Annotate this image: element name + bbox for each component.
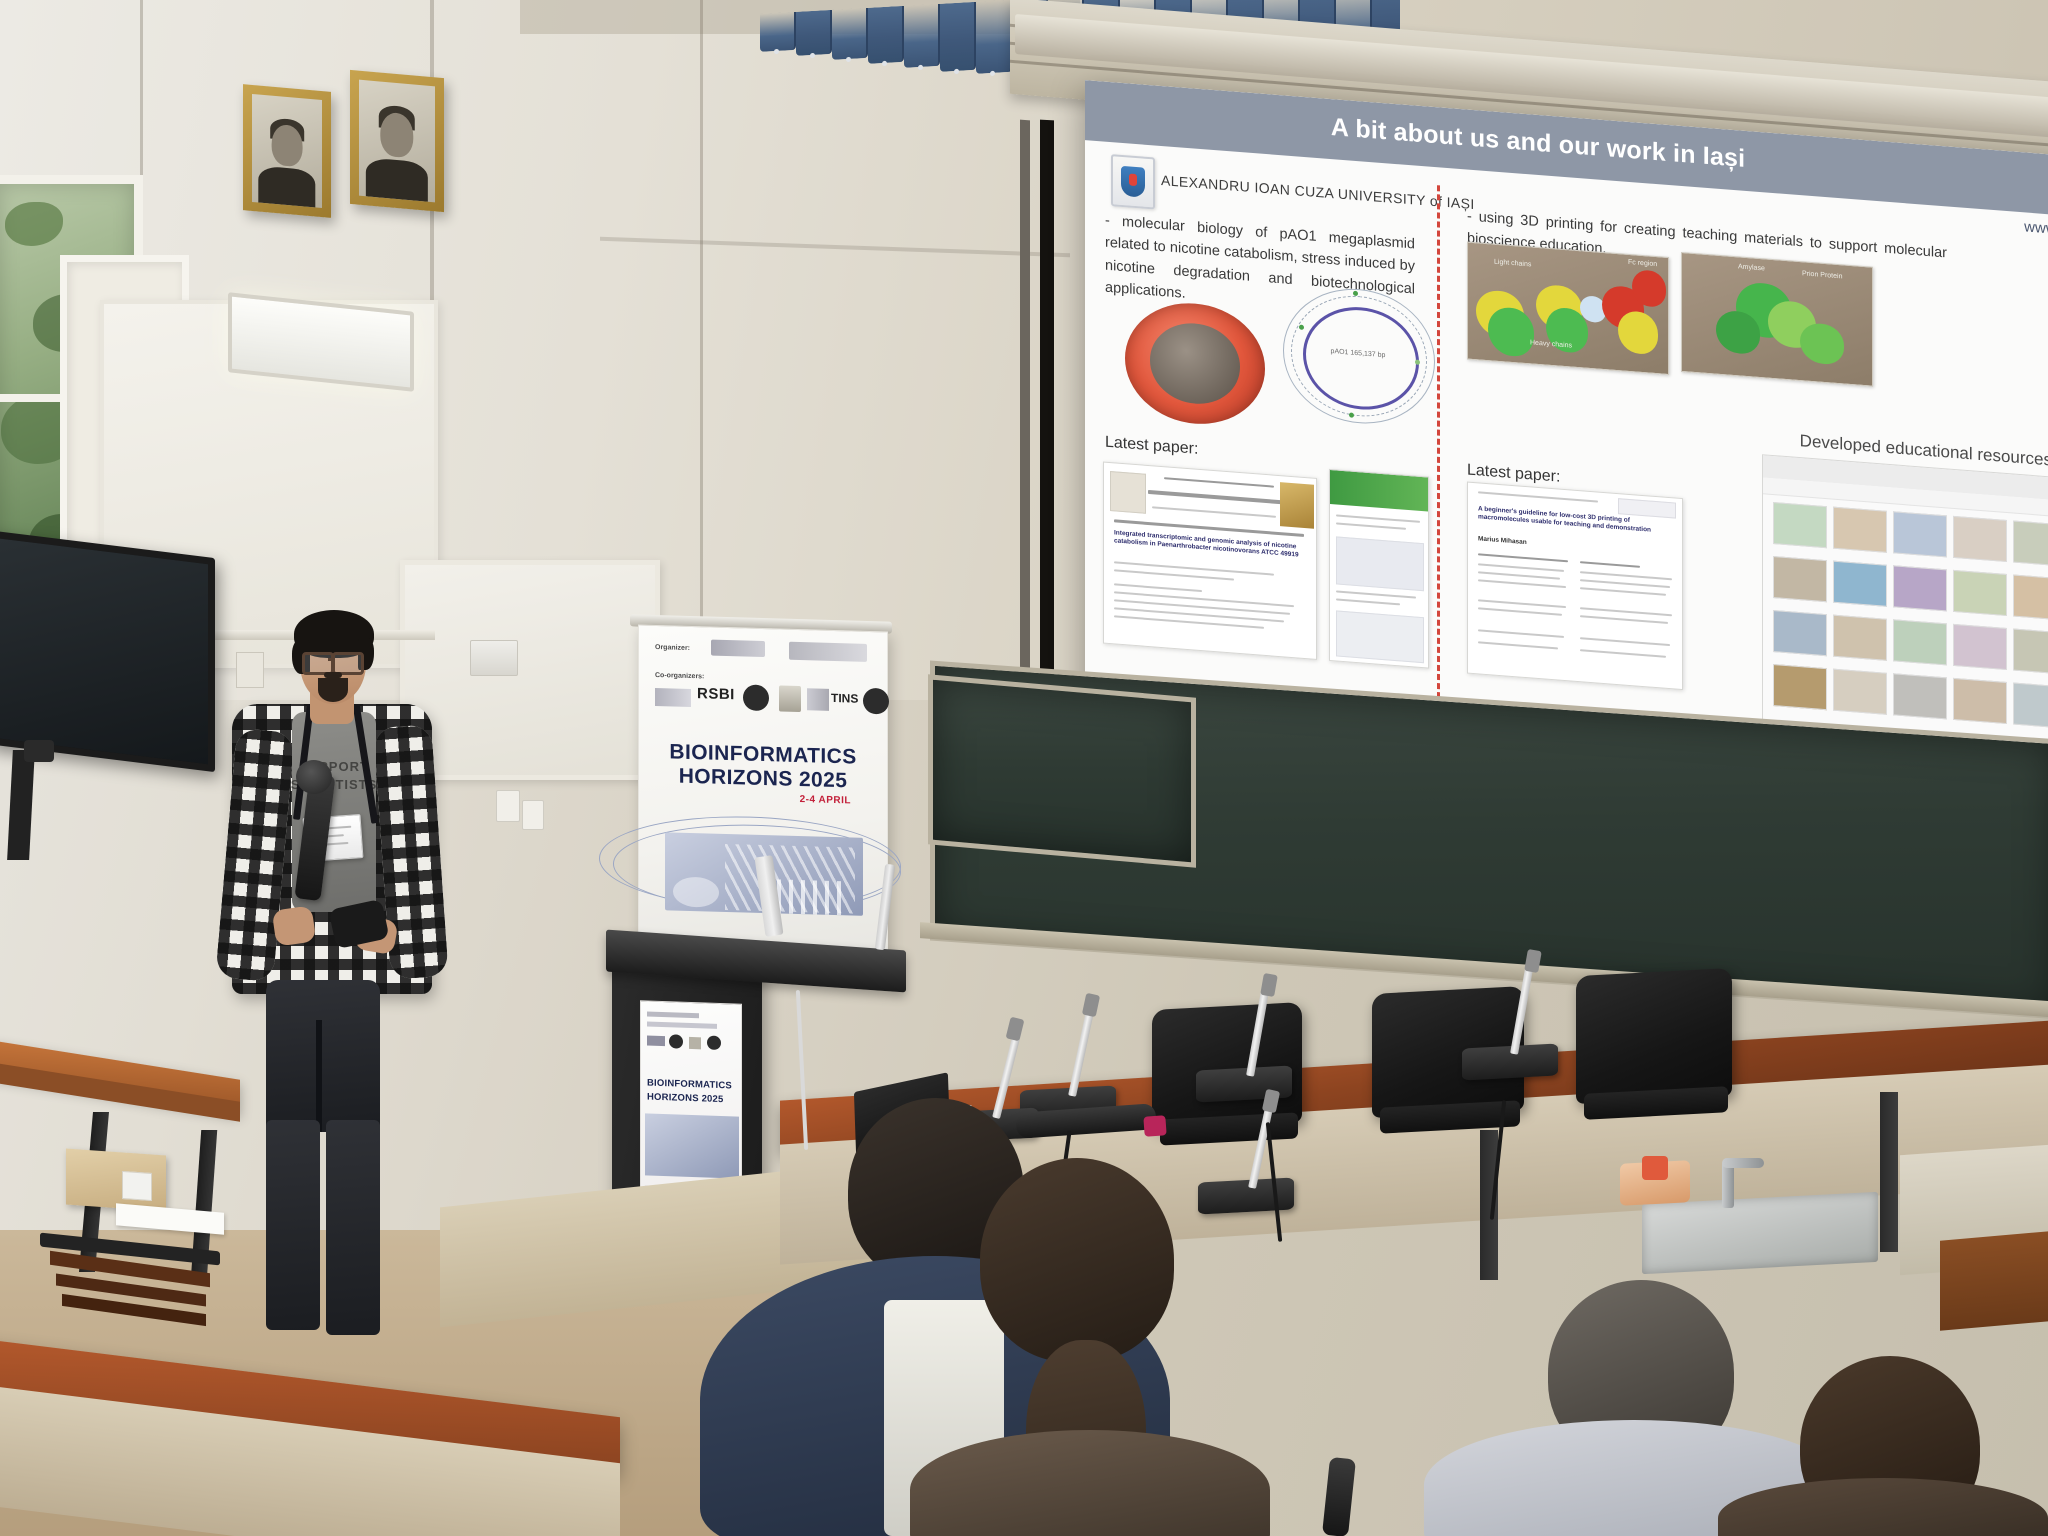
- banner-dates: 2-4 APRIL: [800, 794, 851, 806]
- model-label-amylase: Amylase: [1738, 263, 1765, 272]
- plasmid-photo: [1125, 298, 1265, 429]
- latest-paper-label-left: Latest paper:: [1105, 434, 1198, 459]
- presenter: SUPPORT SCIENTISTS: [232, 608, 442, 1128]
- paper-right-author: Marius Mihasan: [1478, 535, 1598, 553]
- nih-gallery-screenshot: [1762, 454, 2048, 759]
- slide-divider: [1437, 185, 1440, 725]
- banner-title-line2: HORIZONS 2025: [679, 765, 848, 794]
- desk-leg-2: [1480, 1130, 1498, 1280]
- podium-banner-title-2: HORIZONS 2025: [647, 1091, 724, 1105]
- banner-logo-circle: [743, 684, 769, 711]
- desk-item-red: [1642, 1156, 1668, 1180]
- faucet-spout: [1722, 1158, 1764, 1168]
- lecture-hall-photo: A bit about us and our work in Iași www.…: [0, 0, 2048, 1536]
- light-switch[interactable]: [496, 790, 520, 822]
- presenter-moustache: [324, 672, 342, 678]
- right-desk-edge: [1940, 1231, 2048, 1331]
- mic-windscreen-marker: [1143, 1115, 1166, 1136]
- protein-model-photo: Amylase Prion Protein: [1681, 252, 1873, 387]
- desk-leg-3: [1880, 1092, 1898, 1252]
- gooseneck-mic-base-5: [1198, 1177, 1294, 1214]
- banner-coorganizers-label: Co-organizers:: [655, 672, 704, 680]
- wall-portrait-2: [350, 70, 444, 212]
- journal-cover-thumb: [1329, 469, 1429, 669]
- banner-logo-tins: TINS: [831, 691, 858, 706]
- light-switch-2[interactable]: [522, 800, 544, 830]
- plasmid-map-diagram: pAO1 165,137 bp: [1283, 283, 1433, 427]
- panel-chair-3[interactable]: [1576, 968, 1732, 1104]
- banner-logo-rsbi: RSBI: [697, 685, 735, 703]
- model-label-fc-region: Fc region: [1628, 259, 1657, 268]
- model-label-prion: Prion Protein: [1802, 270, 1842, 280]
- display-speaker: [24, 740, 54, 762]
- wall-seam: [700, 0, 703, 700]
- audience-head-2: [980, 1158, 1174, 1362]
- antibody-model-photo: Light chains Heavy chains Fc region: [1467, 241, 1669, 375]
- paper-preview-right: A beginner's guideline for low-cost 3D p…: [1467, 481, 1683, 690]
- wall-display: [0, 530, 215, 772]
- university-name: ALEXANDRU IOAN CUZA UNIVERSITY of IAȘI: [1161, 172, 1475, 212]
- slide-url-corner: www.: [2024, 218, 2048, 238]
- wall-vent: [470, 640, 518, 676]
- chalkboard-secondary: [928, 674, 1196, 867]
- presenter-beard: [318, 678, 348, 702]
- presenter-hand-left: [272, 905, 317, 946]
- banner-logo-circle-2: [863, 688, 889, 715]
- trouser-seam: [316, 1020, 322, 1132]
- glasses-bridge: [328, 658, 334, 661]
- paper-preview-left: Integrated transcriptomic and genomic an…: [1103, 461, 1317, 659]
- presenter-leg-left: [266, 1120, 320, 1330]
- box-label: [122, 1171, 152, 1201]
- faucet-stem: [1722, 1162, 1734, 1208]
- university-crest-icon: [1111, 154, 1155, 209]
- sink-basin: [1642, 1192, 1878, 1274]
- model-label-light-chains: Light chains: [1494, 259, 1531, 269]
- presenter-leg-right: [326, 1120, 380, 1335]
- banner-organizer-label: Organizer:: [655, 644, 690, 652]
- wall-portrait-1: [243, 84, 331, 218]
- presenter-trousers: [266, 980, 380, 1132]
- podium-banner-title-1: BIOINFORMATICS: [647, 1077, 732, 1091]
